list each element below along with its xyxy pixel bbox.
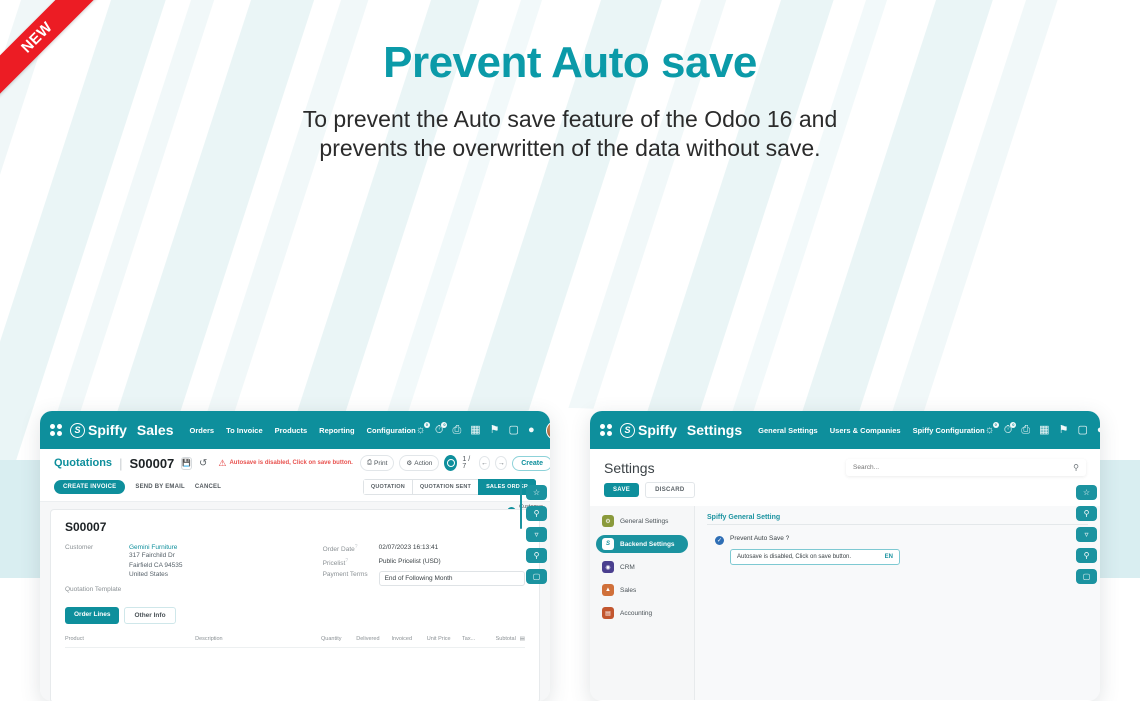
brand-name: Spiffy [638, 422, 677, 438]
messages-icon[interactable]: ☼0 [416, 425, 426, 436]
column-options-icon[interactable]: ▤ [520, 636, 525, 642]
sidebar-item-label: CRM [620, 564, 635, 571]
right-icon-rail: ☆ ⚲ ▿ ⚲ ▢ [1073, 485, 1100, 584]
accounting-icon: ▤ [602, 607, 614, 619]
discard-icon[interactable]: ↺ [199, 458, 207, 469]
apps-menu-button[interactable] [50, 424, 62, 436]
nav-item-orders[interactable]: Orders [189, 426, 214, 435]
new-ribbon-label: NEW [0, 0, 114, 114]
expand-icon[interactable]: ▿ [1076, 527, 1097, 542]
right-nav-icons: ☼0 ⏱0 ⎙ ▦ ⚑ ▢ ● [985, 421, 1100, 440]
activities-icon[interactable]: ⏱0 [435, 425, 444, 436]
autosave-message-input[interactable]: Autosave is disabled, Click on save butt… [730, 549, 900, 565]
customer-address-line-1: 317 Fairchild Dr [129, 552, 175, 559]
pin-icon[interactable]: ● [1097, 425, 1100, 436]
settings-body: ⚙ General Settings S Backend Settings ◉ … [590, 506, 1100, 700]
right-nav-menu: General Settings Users & Companies Spiff… [758, 426, 985, 435]
printer-icon: ⎙ [367, 459, 372, 467]
nav-item-products[interactable]: Products [275, 426, 308, 435]
settings-sidebar: ⚙ General Settings S Backend Settings ◉ … [590, 506, 695, 700]
column-description: Description [195, 636, 321, 642]
flag-icon[interactable]: ⚑ [1059, 425, 1069, 436]
zoom-icon[interactable]: ⚲ [526, 548, 547, 563]
gear-icon: ⚙ [406, 459, 412, 467]
left-nav-icons: ☼0 ⏱0 ⎙ ▦ ⚑ ▢ ● [416, 421, 550, 440]
nav-item-reporting[interactable]: Reporting [319, 426, 354, 435]
discard-button[interactable]: DISCARD [645, 482, 694, 498]
left-icon-rail: ☆ ⚲ ▿ ⚲ ▢ [523, 485, 550, 584]
print-button[interactable]: ⎙ Print [360, 455, 395, 471]
page-title: Prevent Auto save [0, 38, 1140, 89]
stage-bar: QUOTATION QUOTATION SENT SALES ORDER [363, 479, 536, 495]
header-block: Prevent Auto save To prevent the Auto sa… [0, 0, 1140, 163]
star-icon[interactable]: ☆ [1076, 485, 1097, 500]
column-quantity: Quantity [321, 636, 356, 642]
statusbar: CREATE INVOICE SEND BY EMAIL CANCEL QUOT… [40, 475, 550, 502]
form-column-left: Customer Gemini Furniture 317 Fairchild … [65, 544, 323, 596]
flag-icon[interactable]: ⚑ [490, 425, 500, 436]
warning-triangle-icon: ⚠ [218, 458, 226, 469]
order-date-value[interactable]: 02/07/2023 16:13:41 [379, 544, 439, 553]
sidebar-item-general-settings[interactable]: ⚙ General Settings [596, 512, 688, 530]
settings-header: Settings ⚲ [590, 449, 1100, 478]
brand-logo[interactable]: S Spiffy [620, 422, 677, 438]
search-box[interactable]: ⚲ [846, 459, 1086, 476]
notebook-tabs: Order Lines Other Info [65, 607, 525, 624]
print-icon[interactable]: ⎙ [1021, 425, 1030, 436]
control-panel: Quotations | S00007 💾 ↺ ⚠ Autosave is di… [40, 449, 550, 475]
spiffy-logo-icon: S [620, 423, 635, 438]
column-product: Product [65, 636, 195, 642]
search-icon[interactable]: ⚲ [1073, 463, 1079, 472]
zoom-icon[interactable]: ⚲ [1076, 548, 1097, 563]
nav-item-general-settings[interactable]: General Settings [758, 426, 818, 435]
note-icon[interactable]: ▢ [1077, 425, 1087, 436]
field-quotation-template: Quotation Template [65, 586, 323, 593]
nav-item-users-companies[interactable]: Users & Companies [830, 426, 901, 435]
subtitle-line-1: To prevent the Auto save feature of the … [303, 106, 838, 132]
search-icon[interactable]: ⚲ [526, 506, 547, 521]
nav-item-spiffy-configuration[interactable]: Spiffy Configuration [913, 426, 985, 435]
pin-icon[interactable]: ● [528, 425, 535, 436]
customer-address-line-2: Fairfield CA 94535 [129, 562, 182, 569]
print-label: Print [374, 460, 387, 467]
autosave-warning: ⚠ Autosave is disabled, Click on save bu… [218, 458, 352, 469]
avatar[interactable] [546, 421, 550, 440]
autosave-message-value: Autosave is disabled, Click on save butt… [737, 554, 885, 560]
breadcrumb-current: S00007 [129, 456, 174, 471]
sidebar-item-sales[interactable]: ▲ Sales [596, 581, 688, 599]
star-icon[interactable]: ☆ [526, 485, 547, 500]
spiffy-icon: S [602, 538, 614, 550]
crm-icon: ◉ [602, 561, 614, 573]
rail-accent-bar [520, 481, 522, 529]
field-payment-terms: Payment Terms End of Following Month [323, 571, 525, 586]
action-label: Action [414, 460, 432, 467]
search-input[interactable] [853, 464, 1073, 471]
payment-terms-input[interactable]: End of Following Month [379, 571, 525, 586]
cancel-button[interactable]: CANCEL [195, 484, 221, 490]
bookmark-icon[interactable]: ▢ [526, 569, 547, 584]
stage-quotation-sent[interactable]: QUOTATION SENT [412, 479, 478, 495]
expand-icon[interactable]: ▿ [526, 527, 547, 542]
quotation-template-label: Quotation Template [65, 586, 121, 593]
breadcrumb-separator: | [119, 456, 122, 471]
order-date-label: Order Date? [323, 544, 379, 553]
apps-grid-icon [600, 424, 612, 436]
messages-icon[interactable]: ☼0 [985, 425, 995, 436]
prevent-auto-save-checkbox[interactable]: ✓ [715, 536, 724, 545]
save-icon[interactable]: 💾 [181, 457, 192, 470]
customer-address-line-3: United States [129, 571, 168, 578]
settings-actions: SAVE DISCARD [590, 478, 1100, 506]
column-subtotal-group: Subtotal ▤ [496, 636, 525, 642]
field-order-date: Order Date? 02/07/2023 16:13:41 [323, 544, 525, 553]
tab-other-info[interactable]: Other Info [124, 607, 175, 624]
column-taxes: Tax... [462, 636, 496, 642]
subtitle-line-2: prevents the overwritten of the data wit… [319, 135, 820, 161]
autosave-warning-text: Autosave is disabled, Click on save butt… [229, 460, 352, 466]
save-button[interactable]: SAVE [604, 483, 639, 497]
order-lines-header: Product Description Quantity Delivered I… [65, 636, 525, 648]
column-unit-price: Unit Price [427, 636, 462, 642]
left-nav-menu: Orders To Invoice Products Reporting Con… [189, 426, 415, 435]
settings-main-panel: Spiffy General Setting ✓ Prevent Auto Sa… [695, 506, 1100, 700]
right-screenshot-card: S Spiffy Settings General Settings Users… [590, 411, 1100, 701]
action-button[interactable]: ⚙ Action [399, 455, 439, 471]
spiffy-logo-icon: S [70, 423, 85, 438]
brand-logo[interactable]: S Spiffy [70, 422, 127, 438]
print-icon[interactable]: ⎙ [452, 425, 461, 436]
status-circle-icon[interactable] [444, 455, 457, 471]
form-column-right: Order Date? 02/07/2023 16:13:41 Pricelis… [323, 544, 525, 596]
stage-quotation[interactable]: QUOTATION [363, 479, 412, 495]
column-subtotal: Subtotal [496, 636, 516, 642]
document-title: S00007 [65, 520, 525, 534]
customer-label: Customer [65, 544, 129, 579]
language-badge[interactable]: EN [885, 554, 893, 560]
create-button[interactable]: Create [512, 456, 550, 471]
prevent-auto-save-option: ✓ Prevent Auto Save ? Autosave is disabl… [707, 535, 1088, 565]
send-by-email-button[interactable]: SEND BY EMAIL [135, 484, 185, 490]
prevent-auto-save-label: Prevent Auto Save ? [730, 535, 900, 542]
app-name: Sales [137, 422, 174, 438]
brand-name: Spiffy [88, 422, 127, 438]
pricelist-label: Pricelist? [323, 558, 379, 567]
pager-previous-button[interactable]: ← [479, 456, 491, 470]
nav-item-to-invoice[interactable]: To Invoice [226, 426, 263, 435]
pricelist-value[interactable]: Public Pricelist (USD) [379, 558, 441, 567]
bookmark-icon[interactable]: ▢ [1076, 569, 1097, 584]
control-panel-right: ⎙ Print ⚙ Action 1 / 7 ← → Create [360, 455, 550, 471]
sidebar-item-label: General Settings [620, 518, 668, 525]
tab-order-lines[interactable]: Order Lines [65, 607, 119, 624]
grid-icon[interactable]: ▦ [470, 425, 480, 436]
pager-count: 1 / 7 [462, 456, 473, 470]
payment-terms-label: Payment Terms [323, 571, 379, 578]
new-ribbon: NEW [0, 0, 120, 120]
section-title: Spiffy General Setting [707, 514, 1088, 524]
activities-icon[interactable]: ⏱0 [1004, 425, 1013, 436]
sheet-wrapper: ● Customer Preview S00007 Customer Gemin… [40, 502, 550, 701]
field-customer: Customer Gemini Furniture 317 Fairchild … [65, 544, 323, 579]
app-name: Settings [687, 422, 742, 438]
create-invoice-button[interactable]: CREATE INVOICE [54, 480, 125, 494]
sidebar-item-crm[interactable]: ◉ CRM [596, 558, 688, 576]
column-delivered: Delivered [356, 636, 391, 642]
form-fields: Customer Gemini Furniture 317 Fairchild … [65, 544, 525, 596]
apps-menu-button[interactable] [600, 424, 612, 436]
column-invoiced: Invoiced [392, 636, 427, 642]
note-icon[interactable]: ▢ [509, 425, 519, 436]
field-pricelist: Pricelist? Public Pricelist (USD) [323, 558, 525, 567]
gear-icon: ⚙ [602, 515, 614, 527]
section-divider [707, 524, 1088, 525]
settings-page-title: Settings [604, 460, 655, 476]
sidebar-item-label: Backend Settings [620, 541, 675, 548]
sales-icon: ▲ [602, 584, 614, 596]
search-icon[interactable]: ⚲ [1076, 506, 1097, 521]
left-navbar: S Spiffy Sales Orders To Invoice Product… [40, 411, 550, 449]
customer-value[interactable]: Gemini Furniture [129, 544, 177, 551]
sidebar-item-label: Sales [620, 587, 636, 594]
left-screenshot-card: S Spiffy Sales Orders To Invoice Product… [40, 411, 550, 701]
sidebar-item-label: Accounting [620, 610, 652, 617]
breadcrumb-root[interactable]: Quotations [54, 457, 112, 469]
pager-next-button[interactable]: → [495, 456, 507, 470]
sidebar-item-accounting[interactable]: ▤ Accounting [596, 604, 688, 622]
form-sheet: S00007 Customer Gemini Furniture 317 Fai… [50, 509, 540, 701]
grid-icon[interactable]: ▦ [1039, 425, 1049, 436]
apps-grid-icon [50, 424, 62, 436]
sidebar-item-backend-settings[interactable]: S Backend Settings [596, 535, 688, 553]
right-navbar: S Spiffy Settings General Settings Users… [590, 411, 1100, 449]
nav-item-configuration[interactable]: Configuration [367, 426, 416, 435]
